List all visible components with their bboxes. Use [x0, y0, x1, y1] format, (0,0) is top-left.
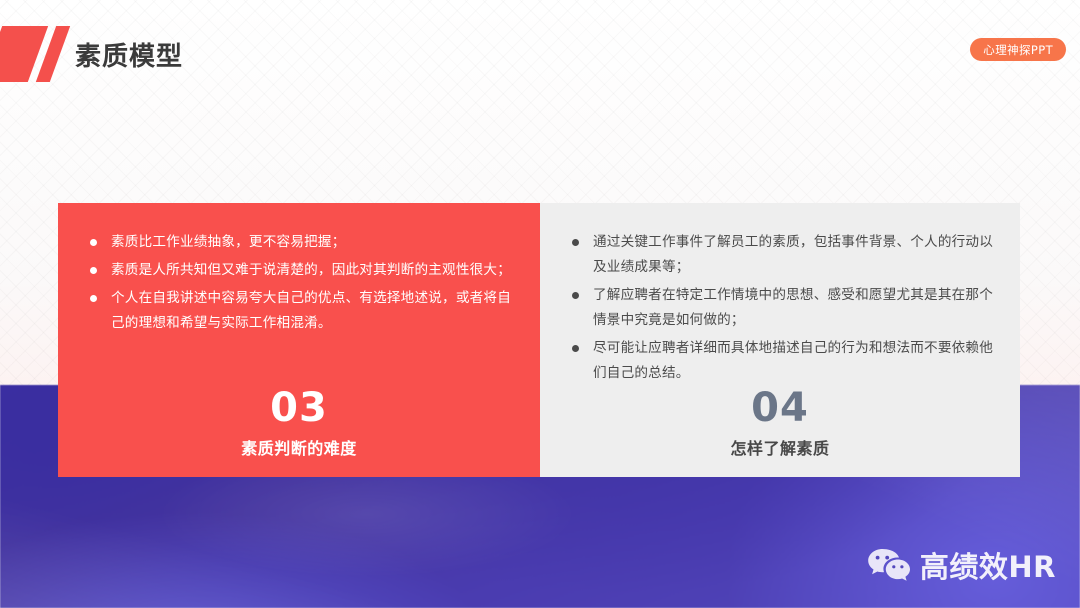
bullet-text: 素质是人所共知但又难于说清楚的，因此对其判断的主观性很大；	[111, 258, 511, 283]
list-item: 通过关键工作事件了解员工的素质，包括事件背景、个人的行动以及业绩成果等；	[572, 230, 994, 280]
slide-canvas: 素质模型 心理神探PPT 素质比工作业绩抽象，更不容易把握； 素质是人所共知但又…	[0, 0, 1080, 608]
page-title: 素质模型	[75, 36, 183, 73]
bullet-dot-icon	[90, 295, 97, 302]
bullet-text: 素质比工作业绩抽象，更不容易把握；	[111, 230, 346, 255]
list-item: 素质是人所共知但又难于说清楚的，因此对其判断的主观性很大；	[90, 258, 514, 283]
bullet-text: 尽可能让应聘者详细而具体地描述自己的行为和想法而不要依赖他们自己的总结。	[593, 336, 994, 386]
content-cards-row: 素质比工作业绩抽象，更不容易把握； 素质是人所共知但又难于说清楚的，因此对其判断…	[58, 203, 1020, 477]
card-03: 素质比工作业绩抽象，更不容易把握； 素质是人所共知但又难于说清楚的，因此对其判断…	[58, 203, 540, 477]
bullet-dot-icon	[572, 239, 579, 246]
bullet-dot-icon	[90, 239, 97, 246]
bullet-dot-icon	[572, 292, 579, 299]
bullet-text: 个人在自我讲述中容易夸大自己的优点、有选择地述说，或者将自己的理想和希望与实际工…	[111, 286, 514, 336]
bullet-dot-icon	[572, 345, 579, 352]
wechat-icon	[867, 548, 911, 582]
card-03-caption: 素质判断的难度	[58, 435, 540, 459]
list-item: 尽可能让应聘者详细而具体地描述自己的行为和想法而不要依赖他们自己的总结。	[572, 336, 994, 386]
watermark-label: 高绩效HR	[920, 544, 1056, 586]
card-04-caption: 怎样了解素质	[540, 435, 1020, 459]
list-item: 素质比工作业绩抽象，更不容易把握；	[90, 230, 514, 255]
list-item: 了解应聘者在特定工作情境中的思想、感受和愿望尤其是其在那个情景中究竟是如何做的；	[572, 283, 994, 333]
bullet-dot-icon	[90, 267, 97, 274]
watermark: 高绩效HR	[867, 544, 1056, 586]
card-04-number: 04	[540, 385, 1020, 431]
double-slash-logo-icon	[0, 26, 68, 82]
brand-badge[interactable]: 心理神探PPT	[970, 38, 1066, 61]
list-item: 个人在自我讲述中容易夸大自己的优点、有选择地述说，或者将自己的理想和希望与实际工…	[90, 286, 514, 336]
card-04-bullet-list: 通过关键工作事件了解员工的素质，包括事件背景、个人的行动以及业绩成果等； 了解应…	[540, 203, 1020, 389]
bullet-text: 通过关键工作事件了解员工的素质，包括事件背景、个人的行动以及业绩成果等；	[593, 230, 994, 280]
card-04: 通过关键工作事件了解员工的素质，包括事件背景、个人的行动以及业绩成果等； 了解应…	[540, 203, 1020, 477]
card-03-bullet-list: 素质比工作业绩抽象，更不容易把握； 素质是人所共知但又难于说清楚的，因此对其判断…	[58, 203, 540, 339]
card-03-number: 03	[58, 385, 540, 431]
bullet-text: 了解应聘者在特定工作情境中的思想、感受和愿望尤其是其在那个情景中究竟是如何做的；	[593, 283, 994, 333]
